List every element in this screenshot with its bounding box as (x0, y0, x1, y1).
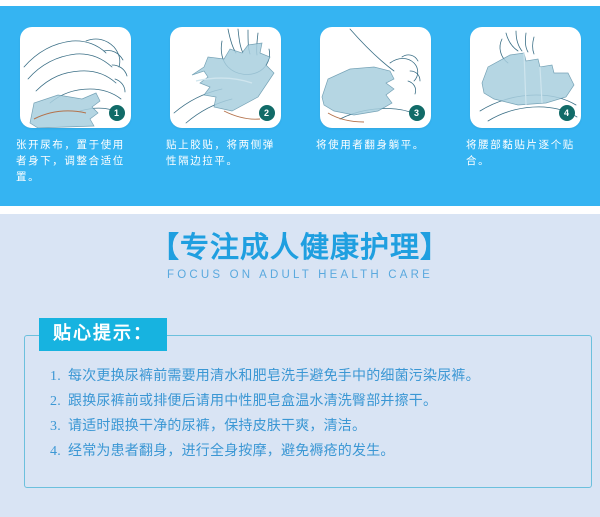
tip-text: 每次更换尿裤前需要用清水和肥皂洗手避免手中的细菌污染尿裤。 (68, 364, 575, 389)
steps-row: 1 张开尿布，置于使用者身下，调整合适位置。 (0, 6, 600, 206)
tip-text: 请适时跟换干净的尿裤，保持皮肤干爽，清洁。 (68, 414, 575, 439)
tip-number: 3. (50, 414, 68, 439)
tip-number: 2. (50, 389, 68, 414)
tip-number: 4. (50, 439, 68, 464)
tips-list: 1. 每次更换尿裤前需要用清水和肥皂洗手避免手中的细菌污染尿裤。 2. 跟换尿裤… (50, 364, 575, 464)
promo-page: 1 张开尿布，置于使用者身下，调整合适位置。 (0, 0, 600, 517)
list-item: 1. 每次更换尿裤前需要用清水和肥皂洗手避免手中的细菌污染尿裤。 (50, 364, 575, 389)
tip-text: 跟换尿裤前或排便后请用中性肥皂盒温水清洗臀部并擦干。 (68, 389, 575, 414)
list-item: 4. 经常为患者翻身，进行全身按摩，避免褥疮的发生。 (50, 439, 575, 464)
instruction-steps-band: 1 张开尿布，置于使用者身下，调整合适位置。 (0, 6, 600, 206)
headline-block: 【专注成人健康护理】 FOCUS ON ADULT HEALTH CARE (0, 230, 600, 281)
step-3-illustration-card: 3 (320, 27, 431, 128)
step-1-illustration-card: 1 (20, 27, 131, 128)
diaper-shape (482, 53, 574, 105)
step-2-caption: 贴上胶贴，将两侧弹性隔边拉平。 (166, 137, 284, 169)
step-3: 3 将使用者翻身躺平。 (300, 6, 450, 206)
step-4: 4 将腰部黏贴片逐个贴合。 (450, 6, 600, 206)
list-item: 2. 跟换尿裤前或排便后请用中性肥皂盒温水清洗臀部并擦干。 (50, 389, 575, 414)
step-2-illustration-card: 2 (170, 27, 281, 128)
step-4-caption: 将腰部黏贴片逐个贴合。 (466, 137, 584, 169)
tips-header-label: 贴心提示： (39, 318, 167, 351)
diaper-shape (192, 43, 274, 111)
step-1-caption: 张开尿布，置于使用者身下，调整合适位置。 (16, 137, 134, 185)
list-item: 3. 请适时跟换干净的尿裤，保持皮肤干爽，清洁。 (50, 414, 575, 439)
step-2: 2 贴上胶贴，将两侧弹性隔边拉平。 (150, 6, 300, 206)
tip-number: 1. (50, 364, 68, 389)
health-care-panel: 【专注成人健康护理】 FOCUS ON ADULT HEALTH CARE 贴心… (0, 214, 600, 517)
step-4-badge: 4 (559, 105, 575, 121)
tip-text: 经常为患者翻身，进行全身按摩，避免褥疮的发生。 (68, 439, 575, 464)
step-2-badge: 2 (259, 105, 275, 121)
step-4-illustration-card: 4 (470, 27, 581, 128)
diaper-shape (322, 67, 394, 115)
headline-chinese: 【专注成人健康护理】 (0, 230, 600, 264)
step-3-caption: 将使用者翻身躺平。 (316, 137, 434, 153)
headline-english: FOCUS ON ADULT HEALTH CARE (0, 269, 600, 281)
step-1: 1 张开尿布，置于使用者身下，调整合适位置。 (0, 6, 150, 206)
step-1-badge: 1 (109, 105, 125, 121)
step-3-badge: 3 (409, 105, 425, 121)
